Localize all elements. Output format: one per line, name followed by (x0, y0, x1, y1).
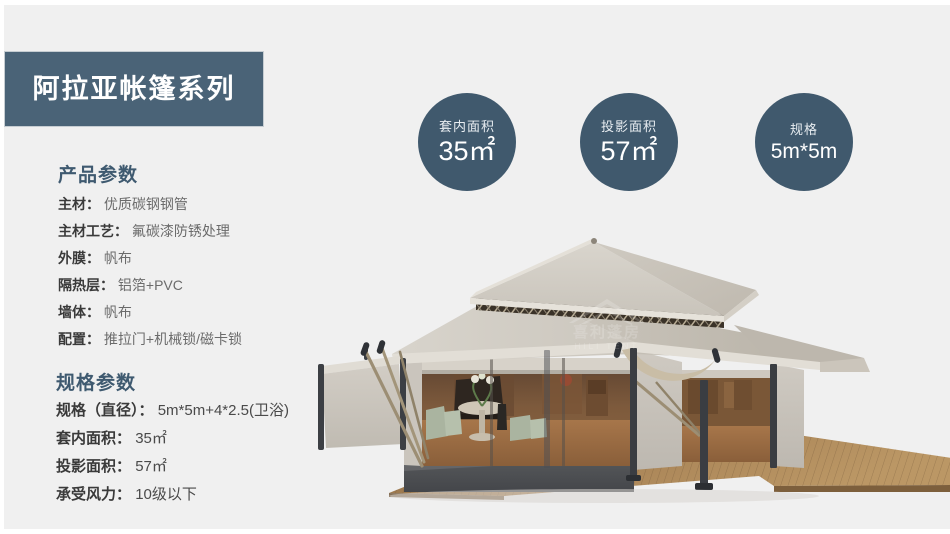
param-key: 主材工艺： (58, 223, 128, 239)
list-item: 主材： 优质碳钢钢管 (58, 191, 242, 218)
param-value: 10级以下 (135, 486, 197, 503)
badge-label: 投影面积 (601, 120, 657, 133)
param-value: 帆布 (104, 304, 132, 320)
tent-interior-left (422, 358, 634, 466)
badge-dimensions: 规格 5m*5m (755, 93, 853, 191)
left-awning (318, 348, 406, 450)
param-key: 主材： (58, 196, 100, 212)
param-key: 承受风力： (56, 486, 131, 503)
param-key: 墙体： (58, 304, 100, 320)
series-title-banner: 阿拉亚帐篷系列 (5, 52, 263, 126)
product-params-list: 主材： 优质碳钢钢管 主材工艺： 氟碳漆防锈处理 外膜： 帆布 隔热层： 铝箔+… (58, 191, 242, 353)
list-item: 墙体： 帆布 (58, 299, 242, 326)
param-value: 帆布 (104, 250, 132, 266)
badge-value: 35㎡ (438, 138, 495, 165)
series-title-text: 阿拉亚帐篷系列 (33, 76, 236, 103)
param-value: 5m*5m+4*2.5(卫浴) (158, 402, 289, 419)
param-value: 推拉门+机械锁/磁卡锁 (104, 331, 242, 347)
badge-label: 套内面积 (439, 120, 495, 133)
tent-illustration (304, 230, 950, 520)
spec-params-heading: 规格参数 (56, 368, 136, 395)
product-params-heading: 产品参数 (58, 160, 138, 187)
list-item: 隔热层： 铝箔+PVC (58, 272, 242, 299)
screenshot-root: 阿拉亚帐篷系列 产品参数 主材： 优质碳钢钢管 主材工艺： 氟碳漆防锈处理 外膜… (0, 0, 950, 534)
list-item: 规格（直径）： 5m*5m+4*2.5(卫浴) (56, 397, 289, 425)
spec-params-list: 规格（直径）： 5m*5m+4*2.5(卫浴) 套内面积： 35㎡ 投影面积： … (56, 397, 289, 509)
list-item: 承受风力： 10级以下 (56, 481, 289, 509)
param-value: 氟碳漆防锈处理 (132, 223, 230, 239)
badge-value: 5m*5m (771, 141, 838, 162)
param-key: 外膜： (58, 250, 100, 266)
badge-projected-area: 投影面积 57㎡ (580, 93, 678, 191)
param-key: 规格（直径）： (56, 402, 154, 419)
param-key: 套内面积： (56, 430, 131, 447)
list-item: 套内面积： 35㎡ (56, 425, 289, 453)
param-value: 35㎡ (135, 430, 167, 447)
list-item: 配置： 推拉门+机械锁/磁卡锁 (58, 326, 242, 353)
badge-value: 57㎡ (600, 138, 657, 165)
list-item: 主材工艺： 氟碳漆防锈处理 (58, 218, 242, 245)
list-item: 外膜： 帆布 (58, 245, 242, 272)
param-key: 投影面积： (56, 458, 131, 475)
param-key: 隔热层： (58, 277, 114, 293)
param-value: 57㎡ (135, 458, 167, 475)
badge-label: 规格 (790, 123, 818, 136)
param-value: 铝箔+PVC (118, 277, 183, 293)
list-item: 投影面积： 57㎡ (56, 453, 289, 481)
content-panel: 阿拉亚帐篷系列 产品参数 主材： 优质碳钢钢管 主材工艺： 氟碳漆防锈处理 外膜… (4, 5, 950, 529)
param-value: 优质碳钢钢管 (104, 196, 188, 212)
badge-indoor-area: 套内面积 35㎡ (418, 93, 516, 191)
param-key: 配置： (58, 331, 100, 347)
